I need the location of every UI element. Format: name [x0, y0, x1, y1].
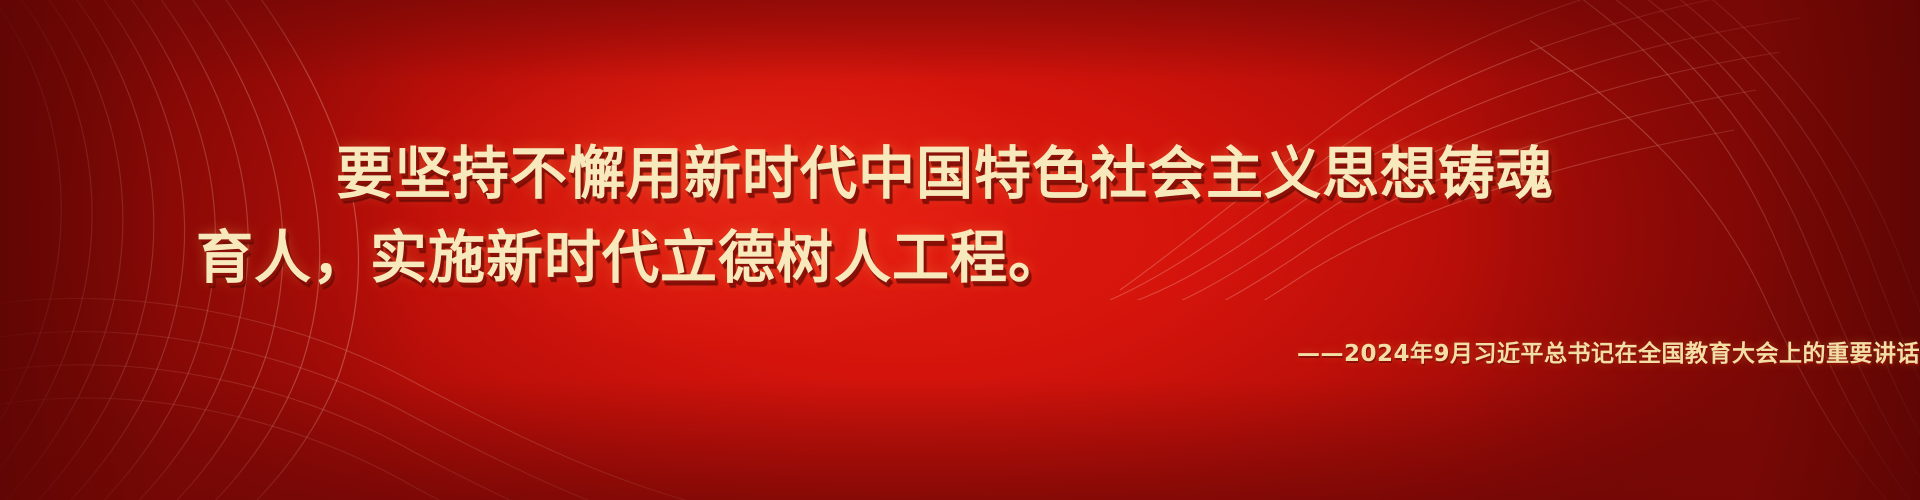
quote-line-2: 育人，实施新时代立德树人工程。 — [0, 216, 1920, 300]
quote-line-1: 要坚持不懈用新时代中国特色社会主义思想铸魂 — [0, 132, 1920, 216]
quote-attribution: ——2024年9月习近平总书记在全国教育大会上的重要讲话 — [0, 334, 1920, 368]
banner-content: 要坚持不懈用新时代中国特色社会主义思想铸魂 育人，实施新时代立德树人工程。 ——… — [0, 0, 1920, 500]
slogan-banner: 要坚持不懈用新时代中国特色社会主义思想铸魂 育人，实施新时代立德树人工程。 ——… — [0, 0, 1920, 500]
